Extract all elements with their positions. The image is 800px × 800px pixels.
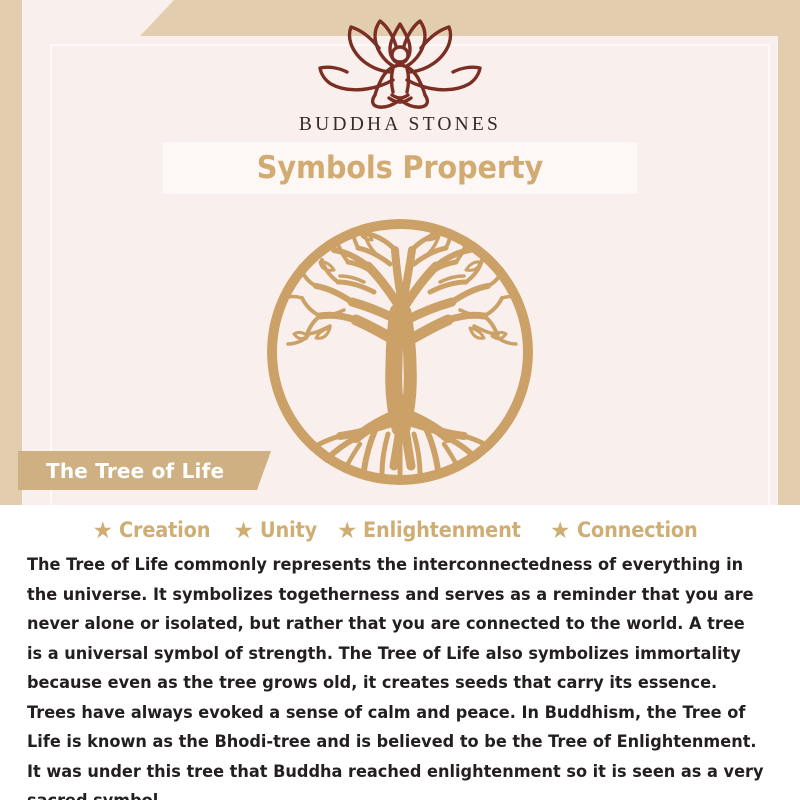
tree-of-life-icon (264, 216, 536, 488)
star-icon: ★ (337, 519, 358, 542)
keyword-item: ★ Unity (233, 518, 322, 542)
description-paragraph: The Tree of Life commonly represents the… (27, 550, 765, 800)
content-panel: ★ Creation ★ Unity ★ Enlightenment ★ Con… (0, 505, 800, 800)
keyword-item: ★ Enlightenment (337, 518, 535, 542)
keyword-item: ★ Creation (92, 518, 218, 542)
star-icon: ★ (550, 519, 571, 542)
lotus-meditation-icon (309, 16, 491, 112)
star-icon: ★ (233, 519, 254, 542)
keyword-label: Unity (260, 518, 317, 542)
keyword-label: Creation (119, 518, 210, 542)
page-title: Symbols Property (257, 150, 543, 186)
star-icon: ★ (92, 519, 113, 542)
brand-header: BUDDHA STONES (0, 16, 800, 136)
keyword-list: ★ Creation ★ Unity ★ Enlightenment ★ Con… (0, 505, 800, 542)
infographic-page: BUDDHA STONES Symbols Property (0, 0, 800, 800)
page-title-banner: Symbols Property (163, 142, 637, 194)
section-label-ribbon: The Tree of Life (18, 451, 271, 490)
keyword-item: ★ Connection (550, 518, 708, 542)
section-label-text: The Tree of Life (18, 459, 224, 483)
brand-wordmark: BUDDHA STONES (0, 114, 800, 136)
keyword-label: Connection (577, 518, 698, 542)
keyword-label: Enlightenment (363, 518, 521, 542)
